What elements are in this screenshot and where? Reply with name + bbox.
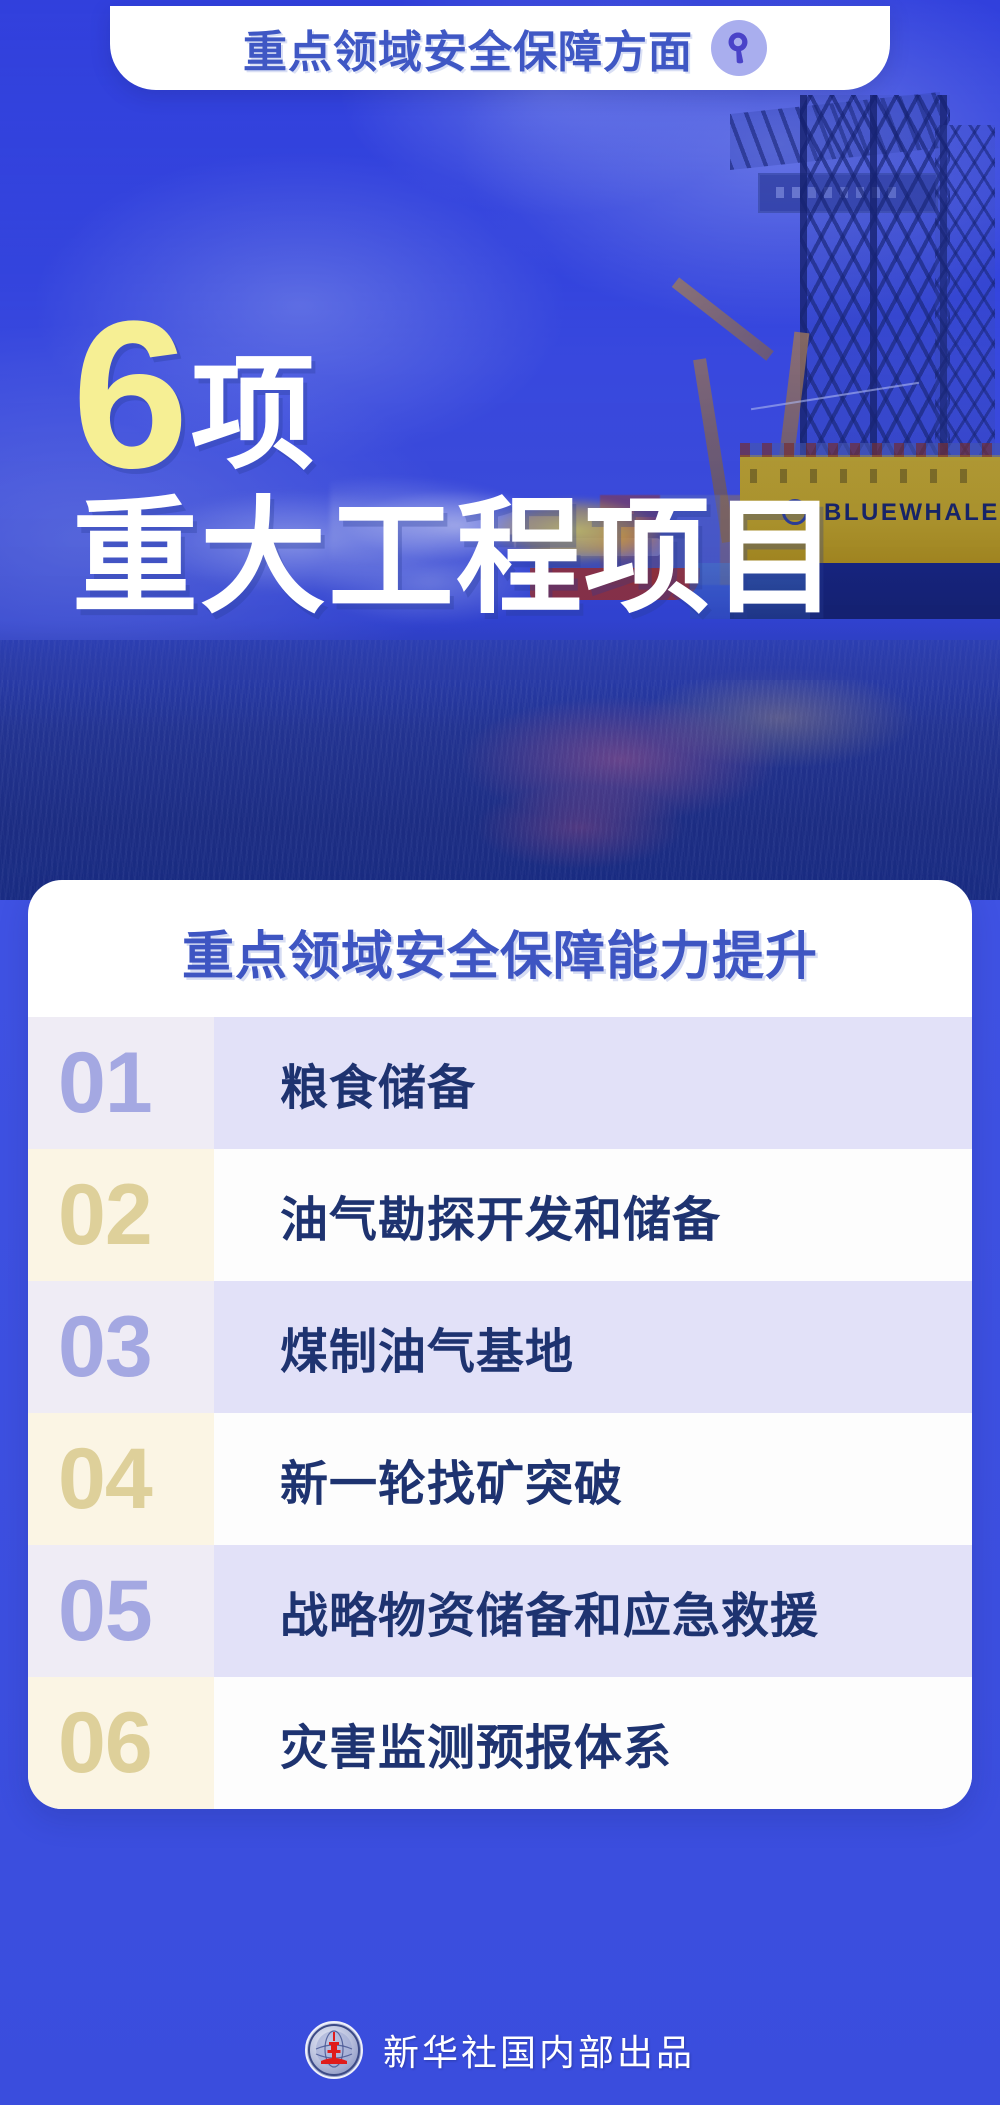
list-rows: 01 粮食储备 02 油气勘探开发和储备 03 煤制油气基地 04 新一轮找矿突… bbox=[28, 1017, 972, 1809]
list-item-number: 04 bbox=[28, 1413, 214, 1545]
list-item[interactable]: 04 新一轮找矿突破 bbox=[28, 1413, 972, 1545]
footer: 新华社国内部出品 bbox=[0, 1995, 1000, 2105]
list-item[interactable]: 06 灾害监测预报体系 bbox=[28, 1677, 972, 1809]
list-item[interactable]: 03 煤制油气基地 bbox=[28, 1281, 972, 1413]
list-item-label: 粮食储备 bbox=[214, 1017, 972, 1149]
list-item-number: 06 bbox=[28, 1677, 214, 1809]
list-item-number: 01 bbox=[28, 1017, 214, 1149]
list-item-label: 战略物资储备和应急救援 bbox=[214, 1545, 972, 1677]
list-item-label: 煤制油气基地 bbox=[214, 1281, 972, 1413]
section-badge: 重点领域安全保障方面 bbox=[110, 6, 890, 90]
xinhua-emblem-icon bbox=[305, 2021, 363, 2079]
headline-unit: 项 bbox=[191, 353, 315, 477]
list-item-label: 灾害监测预报体系 bbox=[214, 1677, 972, 1809]
list-item[interactable]: 01 粮食储备 bbox=[28, 1017, 972, 1149]
infographic-poster: BLUEWHALE 重点领域安全保障方面 6 项 重大工程项目 bbox=[0, 0, 1000, 2105]
list-item-label: 油气勘探开发和储备 bbox=[214, 1149, 972, 1281]
headline-line-1: 6 项 bbox=[72, 300, 840, 489]
list-item-number: 03 bbox=[28, 1281, 214, 1413]
list-item-number: 02 bbox=[28, 1149, 214, 1281]
list-item[interactable]: 05 战略物资储备和应急救援 bbox=[28, 1545, 972, 1677]
badge-title: 重点领域安全保障方面 bbox=[243, 16, 693, 80]
headline-subtitle: 重大工程项目 bbox=[72, 495, 840, 621]
card-title: 重点领域安全保障能力提升 bbox=[28, 880, 972, 1017]
footer-text: 新华社国内部出品 bbox=[383, 2024, 695, 2076]
list-item-label: 新一轮找矿突破 bbox=[214, 1413, 972, 1545]
list-item[interactable]: 02 油气勘探开发和储备 bbox=[28, 1149, 972, 1281]
list-item-number: 05 bbox=[28, 1545, 214, 1677]
hero-headline: 6 项 重大工程项目 bbox=[72, 300, 840, 621]
magnifier-icon bbox=[711, 20, 767, 76]
list-card: 重点领域安全保障能力提升 01 粮食储备 02 油气勘探开发和储备 03 煤制油… bbox=[28, 880, 972, 1809]
headline-number: 6 bbox=[72, 300, 185, 489]
top-badge-container: 重点领域安全保障方面 bbox=[0, 0, 1000, 108]
